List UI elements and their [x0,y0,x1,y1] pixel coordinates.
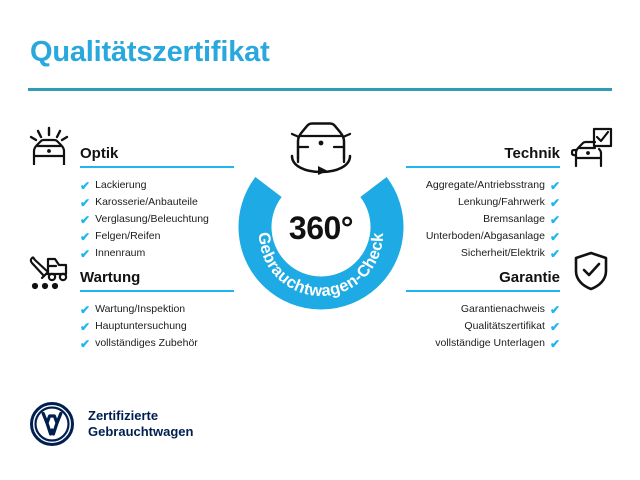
list-item-label: Karosserie/Anbauteile [95,194,198,211]
list-item-label: Qualitätszertifikat [464,318,545,335]
list-item-label: Lenkung/Fahrwerk [458,194,545,211]
check-icon: ✔ [80,338,90,350]
check-icon: ✔ [550,321,560,333]
section-wartung-title: Wartung [80,269,140,286]
gebrauchtwagen-check-badge: Gebrauchtwagen-Check 360° [228,114,414,310]
list-item-label: Verglasung/Beleuchtung [95,211,209,228]
list-item-label: Unterboden/Abgasanlage [426,228,545,245]
list-item: ✔Verglasung/Beleuchtung [24,211,234,228]
list-item: ✔Karosserie/Anbauteile [24,194,234,211]
check-icon: ✔ [80,197,90,209]
list-item-label: vollständiges Zubehör [95,335,198,352]
check-icon: ✔ [550,180,560,192]
check-icon: ✔ [550,214,560,226]
list-item-label: Garantienachweis [461,301,545,318]
car-wash-icon [26,126,72,168]
check-icon: ✔ [80,180,90,192]
section-garantie: Garantie ✔Garantienachweis ✔Qualitätszer… [406,254,616,352]
section-technik-title: Technik [504,145,560,162]
list-item-label: Hauptuntersuchung [95,318,187,335]
list-item-label: Wartung/Inspektion [95,301,185,318]
list-item: ✔Garantienachweis [406,301,616,318]
section-technik: Technik ✔Aggregate/Antriebsstrang ✔Lenku… [406,130,616,262]
check-icon: ✔ [80,231,90,243]
section-garantie-title: Garantie [499,269,560,286]
car-checkbox-icon [568,126,614,168]
list-item: ✔Bremsanlage [406,211,616,228]
title-divider [28,88,612,91]
check-icon: ✔ [550,231,560,243]
list-item: ✔Aggregate/Antriebsstrang [406,177,616,194]
section-technik-underline [406,166,560,168]
list-item: ✔Lackierung [24,177,234,194]
check-icon: ✔ [550,197,560,209]
list-item: ✔vollständige Unterlagen [406,335,616,352]
list-item: ✔Unterboden/Abgasanlage [406,228,616,245]
list-item: ✔Qualitätszertifikat [406,318,616,335]
check-icon: ✔ [550,338,560,350]
car-rotate-360-icon [278,114,364,176]
section-wartung-header: Wartung [24,254,234,292]
section-garantie-underline [406,290,560,292]
section-wartung: Wartung ✔Wartung/Inspektion ✔Hauptunters… [24,254,234,352]
list-item-label: Felgen/Reifen [95,228,160,245]
section-wartung-underline [80,290,234,292]
check-icon: ✔ [80,304,90,316]
list-item-label: Lackierung [95,177,146,194]
check-icon: ✔ [550,304,560,316]
section-wartung-list: ✔Wartung/Inspektion ✔Hauptuntersuchung ✔… [24,301,234,352]
badge-center-label: 360° [228,210,414,247]
service-tools-car-icon [26,250,72,292]
section-garantie-header: Garantie [406,254,616,292]
section-optik-title: Optik [80,145,118,162]
list-item-label: Aggregate/Antriebsstrang [426,177,545,194]
list-item-label: vollständige Unterlagen [435,335,545,352]
list-item-label: Bremsanlage [483,211,545,228]
list-item: ✔Wartung/Inspektion [24,301,234,318]
section-optik-underline [80,166,234,168]
check-icon: ✔ [80,214,90,226]
section-optik: Optik ✔Lackierung ✔Karosserie/Anbauteile… [24,130,234,262]
section-technik-header: Technik [406,130,616,168]
page-title: Qualitätszertifikat [30,36,270,69]
section-garantie-list: ✔Garantienachweis ✔Qualitätszertifikat ✔… [406,301,616,352]
section-optik-header: Optik [24,130,234,168]
footer-brand: Zertifizierte Gebrauchtwagen [30,402,193,446]
check-icon: ✔ [80,321,90,333]
list-item: ✔Felgen/Reifen [24,228,234,245]
certificate-page: Qualitätszertifikat [0,0,640,480]
list-item: ✔Lenkung/Fahrwerk [406,194,616,211]
list-item: ✔Hauptuntersuchung [24,318,234,335]
footer-brand-text: Zertifizierte Gebrauchtwagen [88,408,193,440]
shield-check-icon [568,250,614,292]
volkswagen-logo [30,402,74,446]
list-item: ✔vollständiges Zubehör [24,335,234,352]
